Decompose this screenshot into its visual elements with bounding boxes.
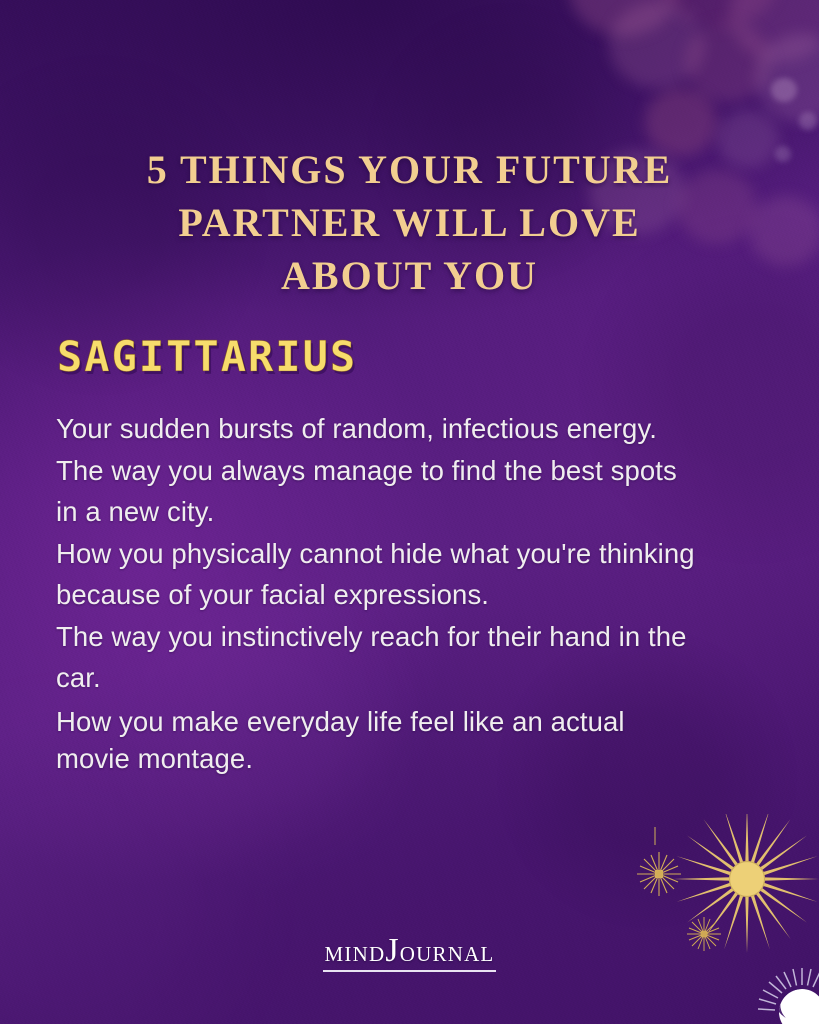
zodiac-sign-heading: SAGITTARIUS <box>57 332 357 381</box>
traits-list: Your sudden bursts of random, infectious… <box>56 408 696 777</box>
sunburst-icon <box>673 814 819 953</box>
list-item: How you physically cannot hide what you'… <box>56 533 696 616</box>
brand-logo-j: J <box>385 932 399 969</box>
brand-logo-ournal: ournal <box>400 935 495 968</box>
brand-logo-mind: mind <box>325 935 386 968</box>
page-title-line-1: 5 THINGS YOUR FUTURE <box>147 147 673 192</box>
page-title: 5 THINGS YOUR FUTURE PARTNER WILL LOVE A… <box>0 143 819 302</box>
list-item: The way you always manage to find the be… <box>56 450 696 533</box>
list-item: The way you instinctively reach for thei… <box>56 616 696 699</box>
celestial-decoration-group <box>619 814 819 1024</box>
page-title-line-2: PARTNER WILL LOVE <box>0 196 819 249</box>
list-item: Your sudden bursts of random, infectious… <box>56 408 696 450</box>
sparkle-icon <box>637 852 681 896</box>
page-title-line-3: ABOUT YOU <box>0 249 819 302</box>
brand-logo[interactable]: mindJournal <box>0 936 819 972</box>
poster-canvas: 5 THINGS YOUR FUTURE PARTNER WILL LOVE A… <box>0 0 819 1024</box>
crescent-moon-icon <box>758 968 819 1024</box>
brand-logo-text: mindJournal <box>323 936 497 972</box>
list-item: How you make everyday life feel like an … <box>56 703 696 777</box>
